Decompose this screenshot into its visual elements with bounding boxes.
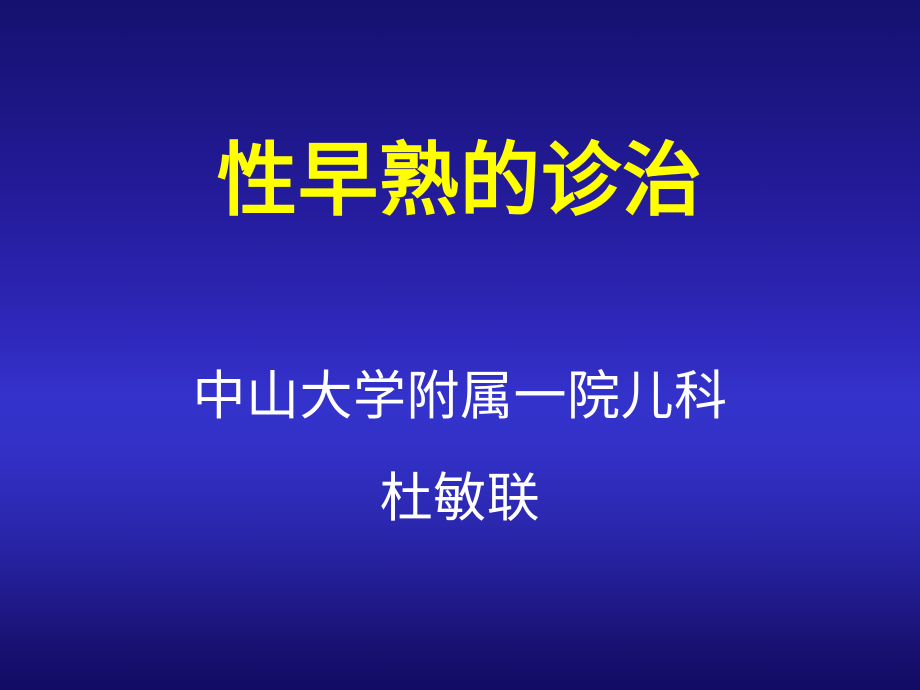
subtitle-block: 中山大学附属一院儿科 杜敏联 bbox=[0, 370, 920, 527]
subtitle-organization: 中山大学附属一院儿科 bbox=[0, 370, 920, 426]
slide-title: 性早熟的诊治 bbox=[0, 142, 920, 224]
presentation-slide: 性早熟的诊治 中山大学附属一院儿科 杜敏联 bbox=[0, 0, 920, 690]
subtitle-author: 杜敏联 bbox=[0, 472, 920, 528]
